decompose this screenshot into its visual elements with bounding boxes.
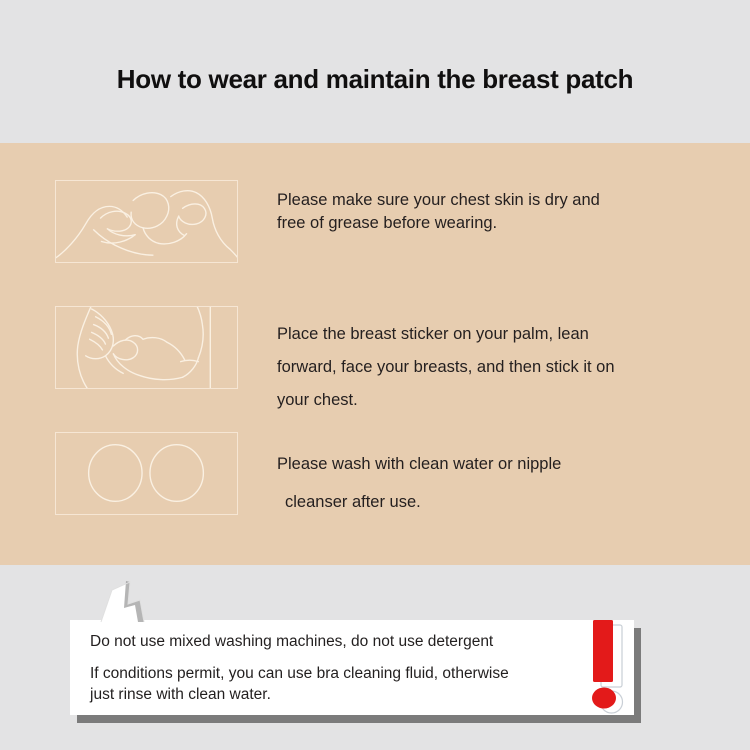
instruction-line: your chest. <box>277 384 717 417</box>
footer-band: Do not use mixed washing machines, do no… <box>0 565 750 750</box>
header-band: How to wear and maintain the breast patc… <box>0 0 750 143</box>
instruction-line: Please wash with clean water or nipple <box>277 445 717 483</box>
torso-side-hand-icon <box>55 306 238 389</box>
instructions-band: Please make sure your chest skin is dry … <box>0 143 750 565</box>
instruction-line: forward, face your breasts, and then sti… <box>277 351 717 384</box>
instruction-line: cleanser after use. <box>277 483 717 521</box>
page-title: How to wear and maintain the breast patc… <box>0 64 750 95</box>
instruction-line: Place the breast sticker on your palm, l… <box>277 318 717 351</box>
instruction-text: Please wash with clean water or nipple c… <box>277 445 717 521</box>
exclamation-mark-icon <box>583 620 635 720</box>
two-round-patches-icon <box>55 432 238 515</box>
callout-tail-icon <box>98 578 168 622</box>
callout-text: Do not use mixed washing machines, do no… <box>90 632 620 705</box>
instruction-line: Please make sure your chest skin is dry … <box>277 189 717 212</box>
callout-line: If conditions permit, you can use bra cl… <box>90 664 620 684</box>
instruction-line: free of grease before wearing. <box>277 212 717 235</box>
callout-line: Do not use mixed washing machines, do no… <box>90 632 620 652</box>
warning-callout: Do not use mixed washing machines, do no… <box>70 620 634 715</box>
instruction-text: Place the breast sticker on your palm, l… <box>277 318 717 417</box>
infographic-page: How to wear and maintain the breast patc… <box>0 0 750 750</box>
callout-body: Do not use mixed washing machines, do no… <box>70 620 634 715</box>
hands-applying-patch-icon <box>55 180 238 263</box>
instruction-text: Please make sure your chest skin is dry … <box>277 189 717 235</box>
callout-line: just rinse with clean water. <box>90 684 620 705</box>
